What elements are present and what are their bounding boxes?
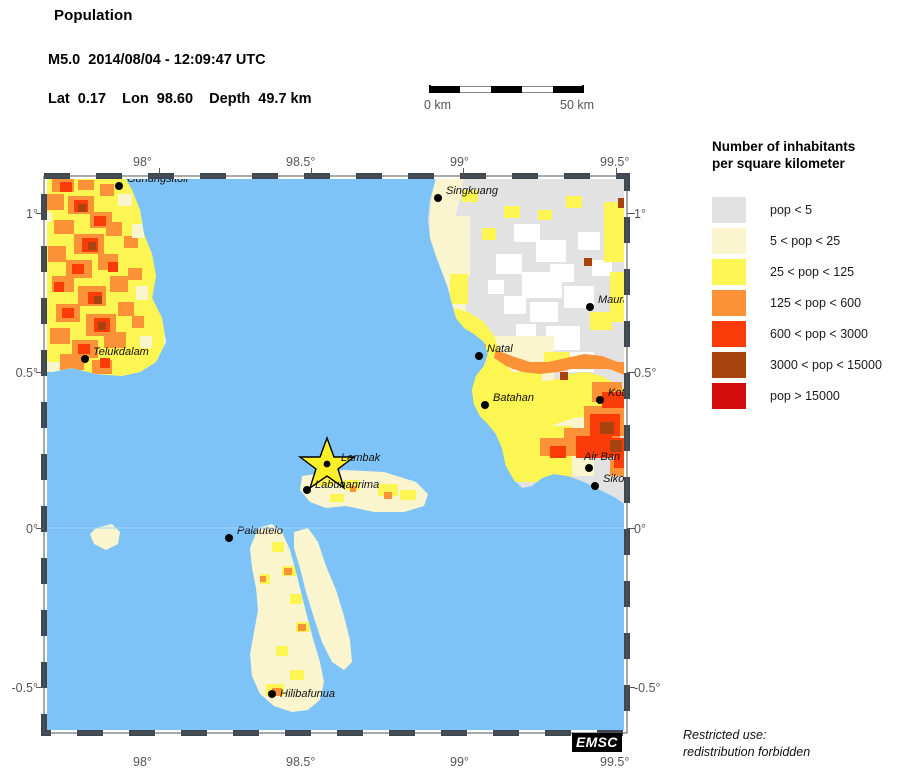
legend-swatch — [712, 321, 746, 347]
legend-swatch — [712, 352, 746, 378]
legend-swatch — [712, 259, 746, 285]
legend-title-line1: Number of inhabitants — [712, 138, 908, 155]
city-label-siko: Siko — [603, 473, 624, 485]
city-label-labuhanrima: Labuhanrima — [315, 479, 379, 491]
legend-label: 600 < pop < 3000 — [770, 327, 868, 341]
x-axis-label-top-2: 99° — [450, 155, 469, 169]
city-dot-air-bangis — [585, 464, 593, 472]
city-label-maura-s: Maura S — [598, 294, 627, 306]
city-dot-labuhanrima — [303, 486, 311, 494]
event-magnitude-line: M5.0 2014/08/04 - 12:09:47 UTC — [48, 52, 266, 68]
map-header: Population M5.0 2014/08/04 - 12:09:47 UT… — [0, 0, 910, 130]
scale-bar-max-label: 50 km — [560, 98, 594, 112]
y-axis-label-right-3: -0.5° — [634, 681, 661, 695]
x-tick-top-1 — [311, 168, 312, 176]
city-label-hilibafunua: Hilibafunua — [280, 688, 335, 700]
legend-label: 5 < pop < 25 — [770, 234, 840, 248]
scale-bar — [429, 86, 584, 93]
legend-row: 25 < pop < 125 — [712, 256, 908, 287]
city-label-kotan: Kotan — [608, 387, 627, 399]
y-axis-label-left-3: -0.5° — [4, 681, 38, 695]
legend-row: 600 < pop < 3000 — [712, 318, 908, 349]
page-title: Population — [54, 7, 133, 24]
emsc-logo: EMSC — [572, 733, 622, 752]
x-axis-label-bottom-1: 98.5° — [286, 755, 315, 769]
legend-row: pop < 5 — [712, 194, 908, 225]
map-canvas: Gunungsitoli Telukdalam Singkuang Maura … — [44, 176, 627, 733]
y-tick-right-3 — [627, 687, 635, 688]
y-tick-left-0 — [36, 213, 44, 214]
city-label-gunungsitoli: Gunungsitoli — [127, 176, 189, 185]
city-dot-singkuang — [434, 194, 442, 202]
city-dot-gunungsitoli — [115, 182, 123, 190]
legend-label: 3000 < pop < 15000 — [770, 358, 882, 372]
x-axis-label-bottom-0: 98° — [133, 755, 152, 769]
x-tick-top-0 — [159, 168, 160, 176]
scale-bar-min-label: 0 km — [424, 98, 451, 112]
x-axis-label-bottom-2: 99° — [450, 755, 469, 769]
usage-restriction-line2: redistribution forbidden — [683, 744, 810, 761]
y-tick-right-1 — [627, 372, 635, 373]
city-dot-lambak — [324, 461, 330, 467]
city-label-natal: Natal — [487, 343, 513, 355]
y-axis-label-right-2: 0° — [634, 522, 646, 536]
city-label-singkuang: Singkuang — [446, 185, 499, 197]
city-dot-telukdalam — [81, 355, 89, 363]
city-label-batahan: Batahan — [493, 392, 534, 404]
usage-restriction-line1: Restricted use: — [683, 727, 810, 744]
y-axis-label-right-0: 1° — [634, 207, 646, 221]
city-label-telukdalam: Telukdalam — [93, 346, 149, 358]
legend-swatch — [712, 290, 746, 316]
map-graphic: Gunungsitoli Telukdalam Singkuang Maura … — [44, 176, 627, 733]
y-tick-right-2 — [627, 528, 635, 529]
legend-label: 125 < pop < 600 — [770, 296, 861, 310]
city-label-air-bangis: Air Ban — [583, 451, 620, 463]
legend-items: pop < 5 5 < pop < 25 25 < pop < 125 125 … — [712, 194, 908, 411]
usage-restriction-note: Restricted use: redistribution forbidden — [683, 727, 810, 761]
legend-row: 5 < pop < 25 — [712, 225, 908, 256]
population-density-map[interactable]: Gunungsitoli Telukdalam Singkuang Maura … — [44, 176, 627, 733]
city-dot-hilibafunua — [268, 690, 276, 698]
legend-swatch — [712, 197, 746, 223]
x-axis-label-top-1: 98.5° — [286, 155, 315, 169]
legend-row: pop > 15000 — [712, 380, 908, 411]
city-dot-siko — [591, 482, 599, 490]
x-axis-label-top-3: 99.5° — [600, 155, 629, 169]
y-tick-right-0 — [627, 213, 635, 214]
event-hypocenter-line: Lat 0.17 Lon 98.60 Depth 49.7 km — [48, 91, 312, 107]
y-axis-label-right-1: 0.5° — [634, 366, 656, 380]
y-axis-label-left-0: 1° — [4, 207, 38, 221]
city-label-palautelo: Palautelo — [237, 525, 283, 537]
city-dot-palautelo — [225, 534, 233, 542]
legend-swatch — [712, 228, 746, 254]
y-tick-left-2 — [36, 528, 44, 529]
legend-row: 125 < pop < 600 — [712, 287, 908, 318]
x-axis-label-top-0: 98° — [133, 155, 152, 169]
legend-label: pop < 5 — [770, 203, 812, 217]
legend-title-line2: per square kilometer — [712, 155, 908, 172]
y-tick-left-3 — [36, 687, 44, 688]
legend-label: pop > 15000 — [770, 389, 840, 403]
x-tick-top-2 — [463, 168, 464, 176]
y-axis-label-left-2: 0° — [4, 522, 38, 536]
y-tick-left-1 — [36, 372, 44, 373]
x-axis-label-bottom-3: 99.5° — [600, 755, 629, 769]
legend-row: 3000 < pop < 15000 — [712, 349, 908, 380]
legend: Number of inhabitants per square kilomet… — [712, 138, 908, 411]
legend-title: Number of inhabitants per square kilomet… — [712, 138, 908, 172]
legend-swatch — [712, 383, 746, 409]
city-dot-maura-s — [586, 303, 594, 311]
y-axis-label-left-1: 0.5° — [4, 366, 38, 380]
legend-label: 25 < pop < 125 — [770, 265, 854, 279]
city-dot-kotan — [596, 396, 604, 404]
city-dot-batahan — [481, 401, 489, 409]
city-label-lambak: Lambak — [341, 452, 381, 464]
x-tick-top-3 — [616, 168, 617, 176]
city-dot-natal — [475, 352, 483, 360]
